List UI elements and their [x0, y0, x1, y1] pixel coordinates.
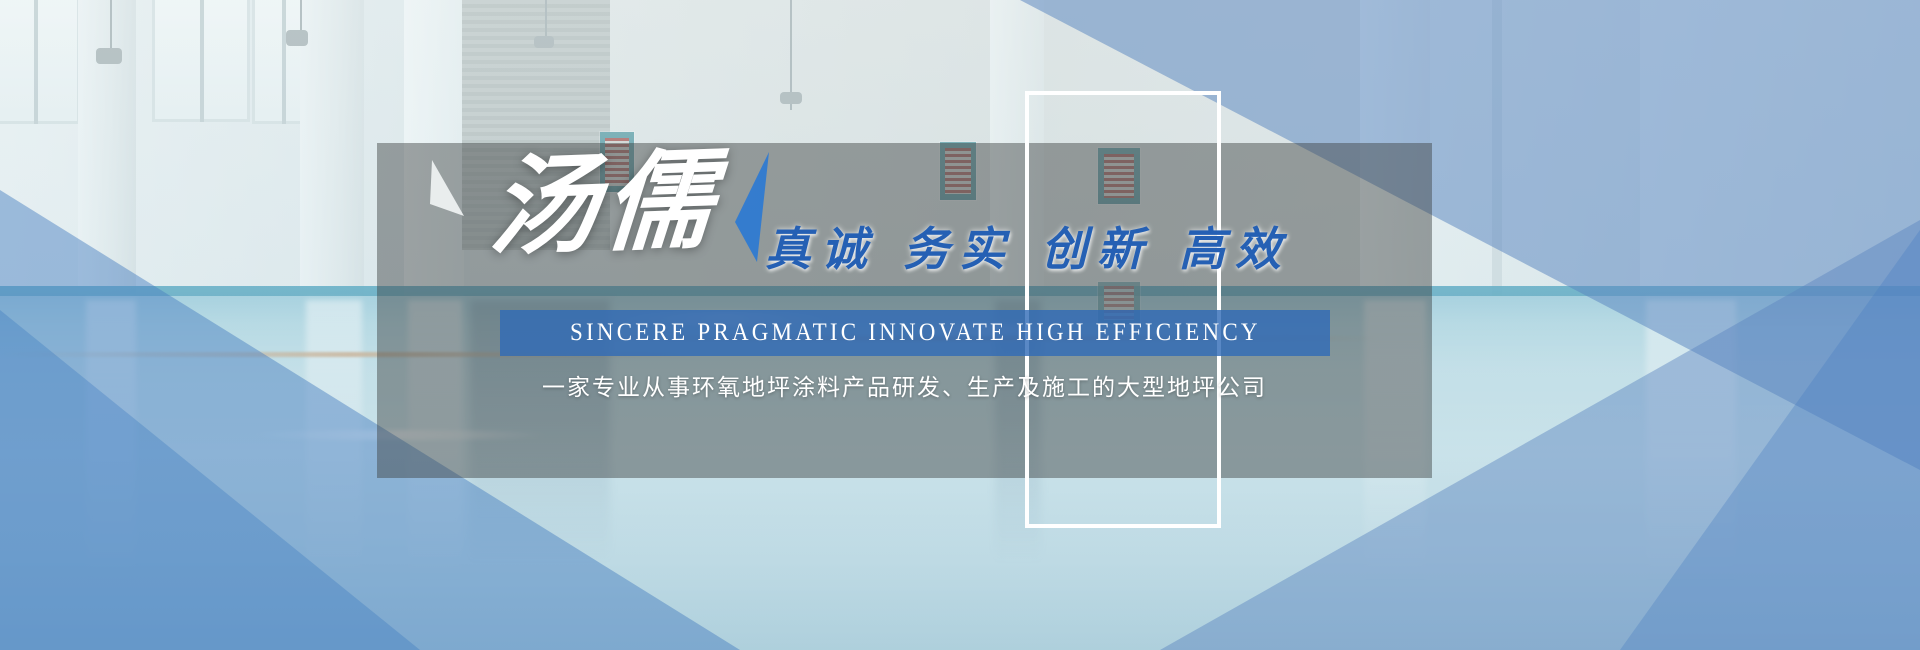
slogan-chinese: 真诚 务实 创新 高效: [765, 226, 1291, 272]
decor-wedge-white-icon: [430, 160, 468, 220]
slogan-english: SINCERE PRAGMATIC INNOVATE HIGH EFFICIEN…: [570, 319, 1261, 347]
company-description-wrapper: 一家专业从事环氧地坪涂料产品研发、生产及施工的大型地坪公司: [377, 368, 1432, 402]
slogan-english-bar: SINCERE PRAGMATIC INNOVATE HIGH EFFICIEN…: [500, 310, 1330, 356]
company-description: 一家专业从事环氧地坪涂料产品研发、生产及施工的大型地坪公司: [542, 368, 1267, 402]
banner-content: 汤儒 真诚 务实 创新 高效 SINCERE PRAGMATIC INNOVAT…: [0, 0, 1920, 650]
hero-banner: 汤儒 真诚 务实 创新 高效 SINCERE PRAGMATIC INNOVAT…: [0, 0, 1920, 650]
company-logo-text: 汤儒: [486, 146, 722, 262]
